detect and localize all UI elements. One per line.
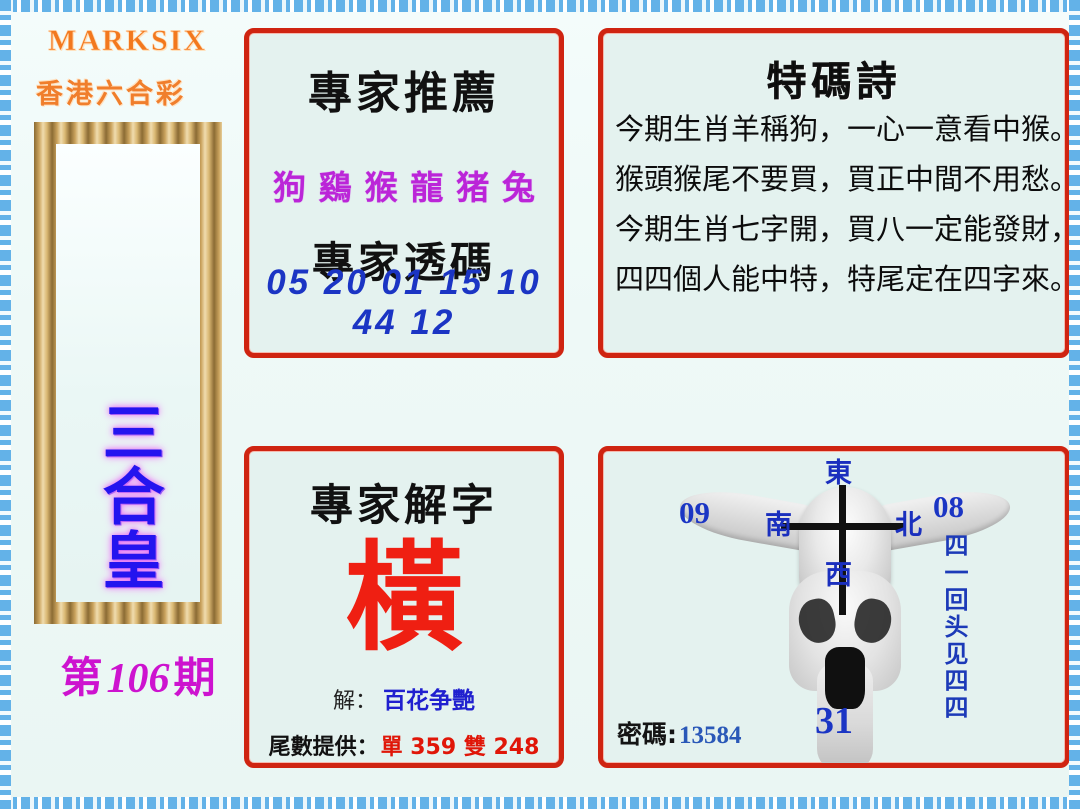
gold-ornamental-frame: 三合皇 — [34, 122, 222, 624]
expert-recommendation-panel: 專家推薦 狗 鷄 猴 龍 猪 兔 專家透碼 05 20 01 15 10 44 … — [244, 28, 564, 358]
poem-line: 今期生肖七字開，買八一定能發財， — [615, 205, 1057, 255]
poem-panel-title: 特碼詩 — [603, 49, 1065, 107]
direction-south: 南 — [765, 503, 792, 542]
zodiac-item: 龍 — [410, 161, 443, 209]
compass-cross-vertical-icon — [839, 485, 846, 615]
poem-line: 四四個人能中特，特尾定在四字來。 — [615, 255, 1057, 305]
skull-number-left: 09 — [679, 495, 710, 531]
skull-number-right: 08 — [933, 489, 964, 525]
word-explanation-label: 解： — [333, 689, 377, 714]
logo-marksix: MARKSIX — [48, 24, 207, 58]
zodiac-item: 猴 — [365, 161, 398, 209]
issue-suffix: 期 — [174, 656, 216, 702]
decorative-border-top — [0, 0, 1080, 12]
issue-label: 第106期 — [38, 644, 238, 705]
skull-illustration: 東 西 南 北 09 08 31 四一回头见四四 密碼:13584 — [603, 451, 1065, 763]
decorative-border-bottom — [0, 797, 1080, 809]
poem-line: 今期生肖羊稱狗，一心一意看中猴。 — [615, 105, 1057, 155]
tail-numbers-value: 單 359 雙 248 — [379, 735, 540, 760]
tail-numbers-row: 尾數提供：單 359 雙 248 — [249, 729, 559, 761]
issue-number: 106 — [103, 656, 174, 702]
secret-code-label: 密碼: — [617, 720, 677, 749]
word-explanation-value: 百花争艷 — [377, 688, 475, 714]
zodiac-item: 兔 — [502, 161, 535, 209]
word-explanation-row: 解：百花争艷 — [249, 681, 559, 715]
vertical-phrase: 四一回头见四四 — [937, 533, 972, 722]
zodiac-list: 狗 鷄 猴 龍 猪 兔 — [259, 161, 549, 209]
direction-east: 東 — [825, 451, 852, 490]
compass-cross-horizontal-icon — [781, 523, 905, 530]
word-panel-title: 專家解字 — [249, 471, 559, 533]
zodiac-item: 猪 — [456, 161, 489, 209]
poem-body: 今期生肖羊稱狗，一心一意看中猴。 猴頭猴尾不要買，買正中間不用愁。 今期生肖七字… — [615, 105, 1057, 305]
brand-column: MARKSIX 香港六合彩 三合皇 第106期 — [14, 14, 236, 784]
zodiac-item: 狗 — [273, 161, 306, 209]
plaque-inner: 三合皇 — [56, 144, 200, 602]
expert-panel-title: 專家推薦 — [249, 57, 559, 121]
expert-lucky-numbers: 05 20 01 15 10 44 12 — [249, 263, 559, 343]
featured-character: 橫 — [249, 539, 559, 657]
skull-compass-panel: 東 西 南 北 09 08 31 四一回头见四四 密碼:13584 — [598, 446, 1070, 768]
plaque-title: 三合皇 — [96, 400, 159, 592]
logo-chinese: 香港六合彩 — [36, 72, 186, 111]
page-root: MARKSIX 香港六合彩 三合皇 第106期 專家推薦 狗 鷄 猴 龍 猪 兔… — [0, 0, 1080, 809]
poem-line: 猴頭猴尾不要買，買正中間不用愁。 — [615, 155, 1057, 205]
secret-code-value: 13584 — [677, 722, 742, 749]
decorative-border-right — [1069, 0, 1080, 809]
direction-west: 西 — [825, 553, 852, 592]
issue-prefix: 第 — [60, 656, 102, 702]
expert-word-panel: 專家解字 橫 解：百花争艷 尾數提供：單 359 雙 248 — [244, 446, 564, 768]
lottery-poem-panel: 特碼詩 今期生肖羊稱狗，一心一意看中猴。 猴頭猴尾不要買，買正中間不用愁。 今期… — [598, 28, 1070, 358]
zodiac-item: 鷄 — [319, 161, 352, 209]
tail-numbers-label: 尾數提供： — [269, 735, 379, 760]
direction-north: 北 — [895, 503, 922, 542]
decorative-border-left — [0, 0, 11, 809]
secret-code-row: 密碼:13584 — [617, 715, 742, 751]
skull-number-bottom: 31 — [815, 699, 853, 743]
